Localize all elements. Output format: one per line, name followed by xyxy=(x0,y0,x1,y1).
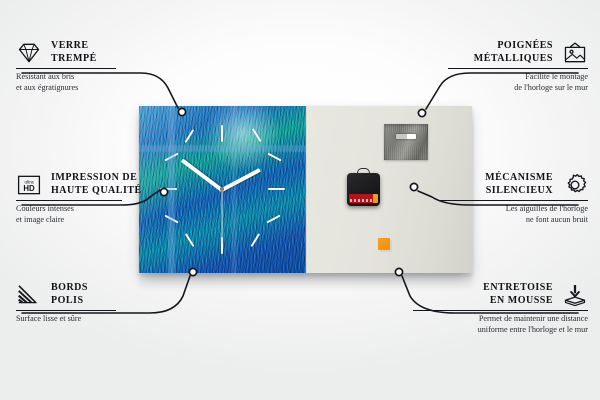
clock-side-edge xyxy=(305,106,307,273)
feature-divider xyxy=(16,310,116,311)
feature-poignees-metalliques: POIGNÉES MÉTALLIQUES Facilite le montage… xyxy=(378,40,588,93)
tick-11 xyxy=(185,129,195,143)
feature-title-line2: POLIS xyxy=(51,295,88,308)
feature-header: BORDS POLIS xyxy=(16,282,206,307)
feature-mecanisme-silencieux: MÉCANISME SILENCIEUX Les aiguilles de l'… xyxy=(378,172,588,225)
clock-hour-hand xyxy=(221,168,261,192)
hanger-slot xyxy=(396,134,416,139)
feature-desc-line2: de l'horloge sur le mur xyxy=(378,83,588,93)
feature-header: POIGNÉES MÉTALLIQUES xyxy=(378,40,588,65)
feature-verre-trempe: VERRE TREMPÉ Résistant aux bris et aux é… xyxy=(16,40,206,93)
polished-edge-icon xyxy=(16,283,42,307)
feature-divider xyxy=(448,68,588,69)
ultra-hd-icon: ultra HD xyxy=(16,173,42,197)
feature-title-line1: BORDS xyxy=(51,282,88,295)
arrow-onto-pad-icon xyxy=(562,283,588,307)
feature-title-line2: TREMPÉ xyxy=(51,53,97,66)
feature-title-line1: POIGNÉES xyxy=(474,40,553,53)
tick-12 xyxy=(221,125,223,142)
feature-desc-line1: Résistant aux bris xyxy=(16,72,206,82)
feature-title-line2: EN MOUSSE xyxy=(483,295,553,308)
tick-1 xyxy=(252,128,262,142)
feature-divider xyxy=(438,200,588,201)
feature-desc-line1: Facilite le montage xyxy=(378,72,588,82)
clock-center-pivot xyxy=(220,187,224,191)
quartz-movement xyxy=(347,173,380,206)
feature-title-line2: MÉTALLIQUES xyxy=(474,53,553,66)
feature-header: ENTRETOISE EN MOUSSE xyxy=(366,282,588,307)
infographic-canvas: VERRE TREMPÉ Résistant aux bris et aux é… xyxy=(0,0,600,400)
gear-icon xyxy=(562,173,588,197)
feature-divider xyxy=(413,310,588,311)
feature-title-line1: VERRE xyxy=(51,40,97,53)
feature-entretoise-en-mousse: ENTRETOISE EN MOUSSE Permet de maintenir… xyxy=(366,282,588,335)
feature-title-line2: HAUTE QUALITÉ xyxy=(51,185,142,198)
feature-desc-line1: Surface lisse et sûre xyxy=(16,314,206,324)
diamond-icon xyxy=(16,41,42,65)
feature-title-line1: MÉCANISME xyxy=(485,172,553,185)
feature-header: VERRE TREMPÉ xyxy=(16,40,206,65)
svg-text:HD: HD xyxy=(23,184,35,193)
feature-title-line1: ENTRETOISE xyxy=(483,282,553,295)
feature-desc-line2: uniforme entre l'horloge et le mur xyxy=(366,325,588,335)
feature-title-line2: SILENCIEUX xyxy=(485,185,553,198)
tick-6 xyxy=(221,237,223,254)
tick-10 xyxy=(164,153,178,162)
tick-2 xyxy=(267,153,281,162)
feature-divider xyxy=(16,200,122,201)
movement-hanger-loop xyxy=(357,168,370,176)
feature-desc-line2: et image claire xyxy=(16,215,216,225)
feature-desc-line1: Couleurs intenses xyxy=(16,204,216,214)
feature-desc-line2: et aux égratignures xyxy=(16,83,206,93)
clock-second-hand xyxy=(221,190,222,244)
picture-frame-hook-icon xyxy=(562,41,588,65)
feature-header: ultra HD IMPRESSION DE HAUTE QUALITÉ xyxy=(16,172,216,197)
feature-header: MÉCANISME SILENCIEUX xyxy=(378,172,588,197)
tick-3 xyxy=(268,188,285,190)
metal-hanger-plate xyxy=(384,124,428,160)
feature-bords-polis: BORDS POLIS Surface lisse et sûre xyxy=(16,282,206,325)
feature-desc-line1: Permet de maintenir une distance xyxy=(366,314,588,324)
feature-impression-haute-qualite: ultra HD IMPRESSION DE HAUTE QUALITÉ Cou… xyxy=(16,172,216,225)
feature-title-line1: IMPRESSION DE xyxy=(51,172,142,185)
feature-desc-line1: Les aiguilles de l'horloge xyxy=(378,204,588,214)
tick-4 xyxy=(266,215,280,224)
tick-7 xyxy=(185,233,195,247)
feature-desc-line2: ne font aucun bruit xyxy=(378,215,588,225)
feature-divider xyxy=(16,68,116,69)
foam-spacer xyxy=(378,238,390,250)
battery-label xyxy=(350,199,372,202)
tick-5 xyxy=(251,233,261,247)
